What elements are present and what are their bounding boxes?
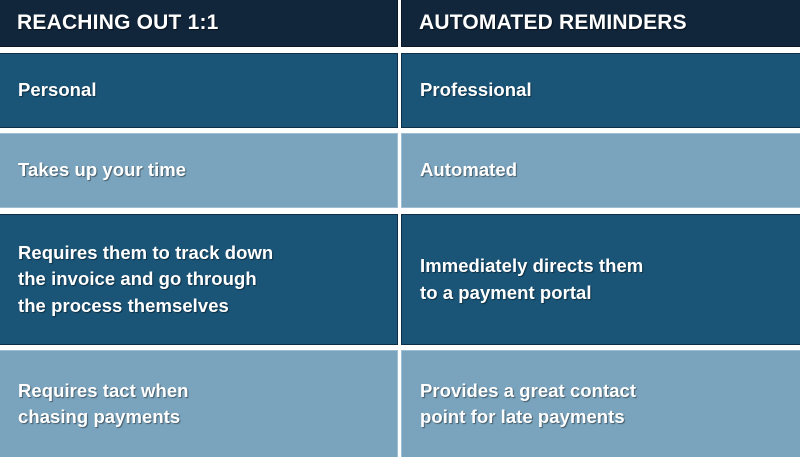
table-cell-reaching-out: Requires them to track down the invoice …	[0, 214, 398, 345]
cell-label: Immediately directs them to a payment po…	[420, 253, 786, 306]
column-header-label: AUTOMATED REMINDERS	[419, 11, 800, 34]
cell-label: Requires them to track down the invoice …	[18, 240, 383, 319]
table-cell-automated-reminders: Automated	[401, 133, 800, 208]
cell-label: Personal	[18, 77, 383, 103]
cell-label: Requires tact when chasing payments	[18, 378, 383, 431]
cell-label: Automated	[420, 157, 786, 183]
table-cell-reaching-out: Takes up your time	[0, 133, 398, 208]
table-cell-automated-reminders: Provides a great contact point for late …	[401, 350, 800, 457]
table-cell-reaching-out: Personal	[0, 53, 398, 128]
cell-label: Professional	[420, 77, 786, 103]
comparison-table: REACHING OUT 1:1 AUTOMATED REMINDERS Per…	[0, 0, 800, 457]
cell-label: Provides a great contact point for late …	[420, 378, 786, 431]
table-header-cell-automated-reminders: AUTOMATED REMINDERS	[401, 0, 800, 47]
table-header-row: REACHING OUT 1:1 AUTOMATED REMINDERS	[0, 0, 800, 47]
table-cell-automated-reminders: Professional	[401, 53, 800, 128]
table-row: Takes up your time Automated	[0, 133, 800, 208]
table-cell-automated-reminders: Immediately directs them to a payment po…	[401, 214, 800, 345]
table-header-cell-reaching-out: REACHING OUT 1:1	[0, 0, 398, 47]
table-row: Requires tact when chasing payments Prov…	[0, 350, 800, 457]
cell-label: Takes up your time	[18, 157, 383, 183]
column-header-label: REACHING OUT 1:1	[17, 11, 397, 34]
table-row: Requires them to track down the invoice …	[0, 214, 800, 345]
table-row: Personal Professional	[0, 53, 800, 128]
table-cell-reaching-out: Requires tact when chasing payments	[0, 350, 398, 457]
